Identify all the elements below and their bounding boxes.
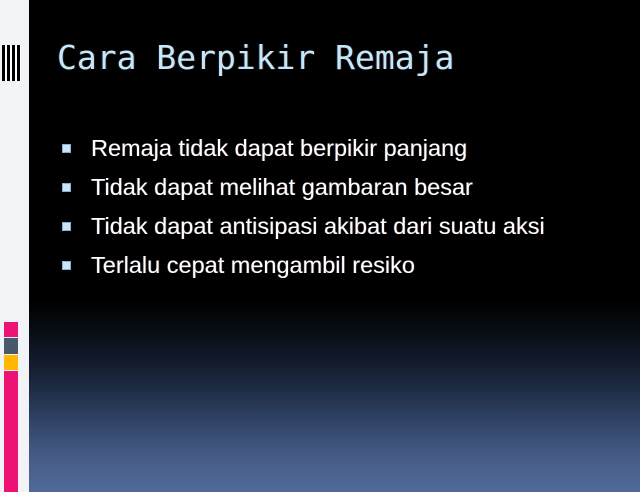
list-item-label: Terlalu cepat mengambil resiko bbox=[91, 248, 622, 282]
list-item-label: Tidak dapat melihat gambaran besar bbox=[91, 170, 622, 204]
list-item-label: Tidak dapat antisipasi akibat dari suatu… bbox=[91, 209, 622, 243]
list-item: Remaja tidak dapat berpikir panjang bbox=[62, 131, 622, 170]
slate-bar-ornament-icon bbox=[4, 338, 18, 354]
square-bullet-icon bbox=[62, 222, 71, 231]
square-bullet-icon bbox=[62, 144, 71, 153]
slide-root: Cara Berpikir Remaja Remaja tidak dapat … bbox=[0, 0, 640, 492]
square-bullet-icon bbox=[62, 183, 71, 192]
list-item-label: Remaja tidak dapat berpikir panjang bbox=[91, 131, 622, 165]
amber-bar-ornament-icon bbox=[4, 355, 18, 370]
bullet-list: Remaja tidak dapat berpikir panjang Tida… bbox=[62, 131, 622, 287]
pink-bar-ornament-icon bbox=[4, 322, 18, 337]
slide-title: Cara Berpikir Remaja bbox=[57, 36, 597, 80]
list-item: Tidak dapat melihat gambaran besar bbox=[62, 170, 622, 209]
square-bullet-icon bbox=[62, 261, 71, 270]
list-item: Tidak dapat antisipasi akibat dari suatu… bbox=[62, 209, 622, 248]
pink-long-bar-ornament-icon bbox=[4, 371, 18, 492]
list-item: Terlalu cepat mengambil resiko bbox=[62, 248, 622, 287]
striped-block-ornament-icon bbox=[2, 45, 21, 81]
